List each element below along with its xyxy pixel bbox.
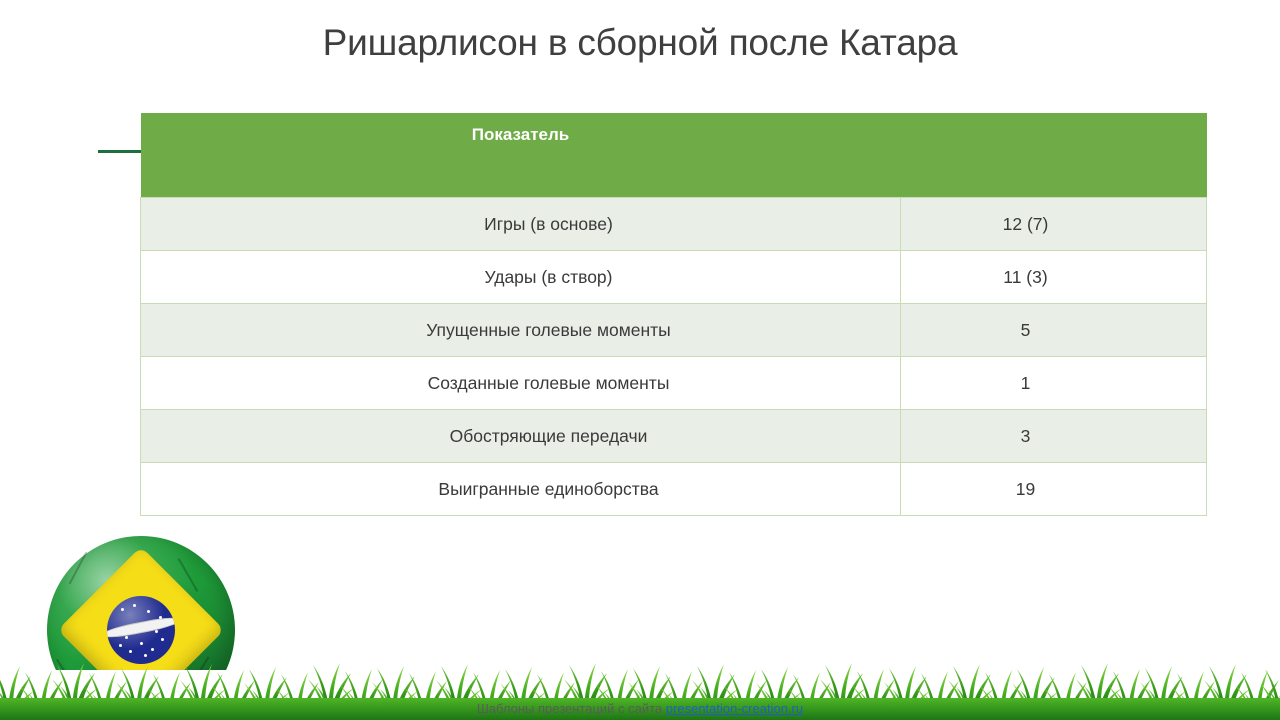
ball-seam — [178, 558, 199, 592]
table-row: Созданные голевые моменты1 — [141, 357, 1207, 410]
flag-globe — [107, 596, 175, 664]
table-header: Показатель — [141, 113, 1207, 198]
footer-credit-text: Шаблоны презентаций с сайта — [477, 701, 666, 716]
cell-metric: Игры (в основе) — [141, 198, 901, 251]
ball-seam — [187, 657, 210, 670]
column-header-metric-label: Показатель — [141, 113, 901, 145]
cell-value: 11 (3) — [901, 251, 1207, 304]
table-header-row: Показатель — [141, 113, 1207, 198]
cell-value: 12 (7) — [901, 198, 1207, 251]
flag-banner — [107, 614, 175, 640]
ball-seam — [69, 552, 88, 585]
table-row: Упущенные голевые моменты5 — [141, 304, 1207, 357]
table-row: Выигранные единоборства19 — [141, 463, 1207, 516]
cell-metric: Созданные голевые моменты — [141, 357, 901, 410]
cell-value: 3 — [901, 410, 1207, 463]
table-row: Игры (в основе)12 (7) — [141, 198, 1207, 251]
cell-value: 19 — [901, 463, 1207, 516]
flag-diamond — [58, 547, 225, 670]
column-header-metric: Показатель — [141, 113, 901, 198]
stats-table: Показатель Игры (в основе)12 (7)Удары (в… — [140, 113, 1207, 516]
cell-value: 1 — [901, 357, 1207, 410]
cell-value: 5 — [901, 304, 1207, 357]
cell-metric: Удары (в створ) — [141, 251, 901, 304]
cell-metric: Обостряющие передачи — [141, 410, 901, 463]
table-row: Удары (в створ)11 (3) — [141, 251, 1207, 304]
page-title: Ришарлисон в сборной после Катара — [0, 22, 1280, 64]
column-header-value — [901, 113, 1207, 198]
table-row: Обостряющие передачи3 — [141, 410, 1207, 463]
footer-credit: Шаблоны презентаций с сайта presentation… — [0, 701, 1280, 716]
ball-seam — [56, 659, 80, 670]
cell-metric: Выигранные единоборства — [141, 463, 901, 516]
table-body: Игры (в основе)12 (7)Удары (в створ)11 (… — [141, 198, 1207, 516]
brazil-flag-soccer-ball-icon — [47, 536, 235, 670]
column-header-value-label — [901, 113, 1207, 126]
footer-credit-link[interactable]: presentation-creation.ru — [666, 701, 803, 716]
cell-metric: Упущенные голевые моменты — [141, 304, 901, 357]
ball-body — [47, 536, 235, 670]
